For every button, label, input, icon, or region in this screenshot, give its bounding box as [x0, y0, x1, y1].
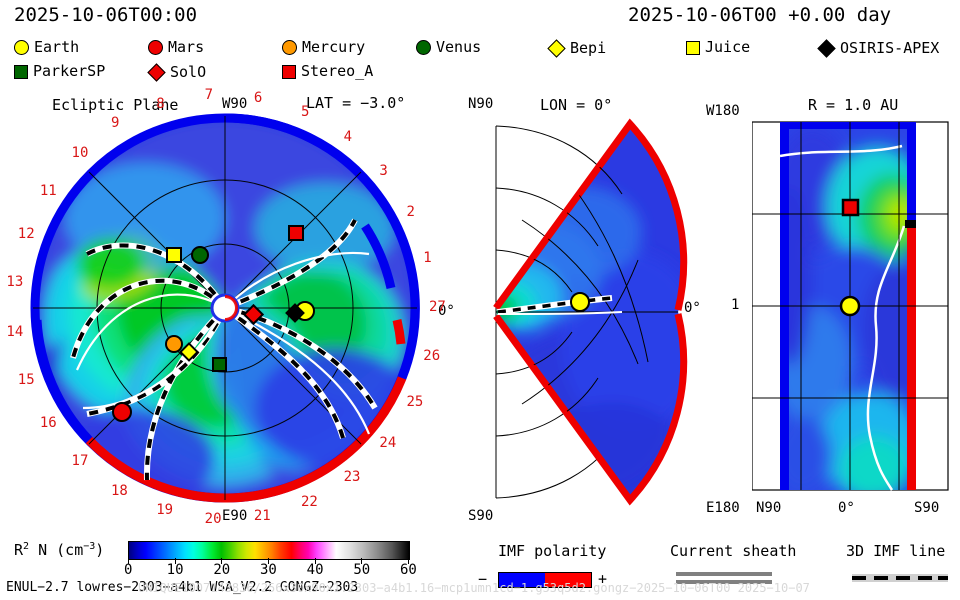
ecliptic-ring-label-26: 26	[423, 348, 440, 364]
square-marker-icon	[282, 65, 296, 79]
legend-item-juice: Juice	[686, 40, 750, 55]
marker-earth-shell	[841, 297, 859, 315]
colorbar-label-r: R	[14, 541, 23, 559]
ecliptic-ring-label-20: 20	[205, 511, 222, 527]
legend-item-label: SolO	[170, 65, 206, 80]
meridional-svg	[462, 112, 692, 512]
colorbar-tick-label-40: 40	[307, 562, 324, 578]
ecliptic-ring-label-9: 9	[111, 115, 119, 131]
current-sheath-title: Current sheath	[670, 542, 796, 560]
ecliptic-ring-label-13: 13	[6, 274, 23, 290]
marker-stereoa-shell	[843, 200, 858, 215]
header-timestamp-right: 2025-10-06T00 +0.00 day	[628, 4, 891, 26]
shell-svg	[752, 116, 960, 496]
shell-xtick-zero: 0°	[838, 500, 855, 516]
legend-item-bepi: Bepi	[548, 40, 606, 57]
ecliptic-ring-label-5: 5	[301, 104, 309, 120]
ecliptic-ring-label-19: 19	[156, 502, 173, 518]
ecliptic-ring-label-16: 16	[40, 415, 57, 431]
ecliptic-plane-plot[interactable]	[25, 108, 425, 508]
legend-item-parkersp: ParkerSP	[14, 64, 105, 79]
ecliptic-ring-label-15: 15	[18, 372, 35, 388]
imf-polarity-title: IMF polarity	[498, 542, 606, 560]
ecliptic-ring-label-8: 8	[156, 96, 164, 112]
square-marker-icon	[14, 65, 28, 79]
shell-top-left-label: W180	[706, 103, 740, 119]
legend-item-solo: SolO	[148, 64, 206, 81]
circle-marker-icon	[416, 40, 431, 55]
ecliptic-ring-label-12: 12	[18, 226, 35, 242]
meridional-slice-plot[interactable]	[462, 112, 692, 516]
shell-bottom-left-label: E180	[706, 500, 740, 516]
shell-plot[interactable]	[752, 116, 960, 500]
current-sheath-line-a	[676, 572, 772, 576]
ecliptic-ring-label-2: 2	[406, 204, 414, 220]
legend-item-label: Stereo_A	[301, 64, 373, 79]
colorbar-tick-label-10: 10	[167, 562, 184, 578]
circle-marker-icon	[282, 40, 297, 55]
legend-item-label: Bepi	[570, 41, 606, 56]
ecliptic-ring-label-11: 11	[40, 183, 57, 199]
shell-ytick-1: 1	[731, 297, 739, 313]
meridional-top-label: N90	[468, 96, 493, 112]
ecliptic-ring-label-18: 18	[111, 483, 128, 499]
legend-item-osiris-apex: OSIRIS-APEX	[818, 40, 939, 57]
ecliptic-ring-label-24: 24	[379, 435, 396, 451]
legend-item-earth: Earth	[14, 40, 79, 55]
ecliptic-ring-label-4: 4	[344, 129, 352, 145]
legend-item-venus: Venus	[416, 40, 481, 55]
ecliptic-ring-label-1: 1	[423, 250, 431, 266]
colorbar-label-exp2: −3	[83, 541, 95, 552]
marker-parkersp	[213, 358, 226, 371]
diamond-marker-icon	[147, 63, 165, 81]
ecliptic-svg	[25, 108, 425, 508]
run-id-watermark: UNIQUE1007143836/256x30x90x1.2303−a4b1.1…	[138, 581, 810, 595]
ecliptic-ring-label-27: 27	[429, 299, 446, 315]
ecliptic-ring-label-25: 25	[406, 394, 423, 410]
colorbar-tick-label-60: 60	[400, 562, 417, 578]
legend-item-label: Mercury	[302, 40, 365, 55]
legend-item-label: Mars	[168, 40, 204, 55]
marker-mercury	[166, 336, 182, 352]
colorbar-label-close: )	[95, 541, 104, 559]
circle-marker-icon	[148, 40, 163, 55]
shell-panel-title: R = 1.0 AU	[808, 96, 898, 114]
legend-item-mars: Mars	[148, 40, 204, 55]
colorbar-tick-label-0: 0	[124, 562, 132, 578]
ecliptic-ring-label-21: 21	[254, 508, 271, 524]
diamond-marker-icon	[817, 39, 835, 57]
colorbar-tick-label-20: 20	[213, 562, 230, 578]
legend-item-mercury: Mercury	[282, 40, 365, 55]
legend-item-label: Venus	[436, 40, 481, 55]
marker-venus	[192, 247, 208, 263]
imf-line-sample	[852, 574, 948, 582]
marker-mars	[113, 403, 131, 421]
diamond-marker-icon	[547, 39, 565, 57]
shell-xtick-s90: S90	[914, 500, 939, 516]
colorbar-tick-label-30: 30	[260, 562, 277, 578]
ecliptic-ring-label-14: 14	[6, 324, 23, 340]
header-timestamp-left: 2025-10-06T00:00	[14, 4, 197, 26]
marker-earth-meridional	[571, 293, 589, 311]
shell-xtick-n90: N90	[756, 500, 781, 516]
square-marker-icon	[686, 41, 700, 55]
colorbar-label: R2 N (cm−3)	[14, 541, 104, 559]
colorbar-label-rest: N (cm	[29, 541, 83, 559]
ecliptic-ring-label-3: 3	[379, 163, 387, 179]
marker-stereoa	[289, 226, 303, 240]
ecliptic-ring-label-10: 10	[72, 145, 89, 161]
legend-item-label: Earth	[34, 40, 79, 55]
ecliptic-ring-label-22: 22	[301, 494, 318, 510]
colorbar-tick-label-50: 50	[353, 562, 370, 578]
circle-marker-icon	[14, 40, 29, 55]
legend-item-label: OSIRIS-APEX	[840, 41, 939, 56]
imf-line-title: 3D IMF line	[846, 542, 945, 560]
ecliptic-ring-label-7: 7	[205, 87, 213, 103]
legend-item-label: Juice	[705, 40, 750, 55]
ecliptic-bottom-label: E90	[222, 508, 247, 524]
legend-item-stereo-a: Stereo_A	[282, 64, 373, 79]
marker-juice	[167, 248, 181, 262]
ecliptic-ring-label-6: 6	[254, 90, 262, 106]
ecliptic-ring-label-23: 23	[344, 469, 361, 485]
legend-item-label: ParkerSP	[33, 64, 105, 79]
colorbar-gradient[interactable]	[128, 541, 410, 560]
ecliptic-ring-label-17: 17	[72, 453, 89, 469]
